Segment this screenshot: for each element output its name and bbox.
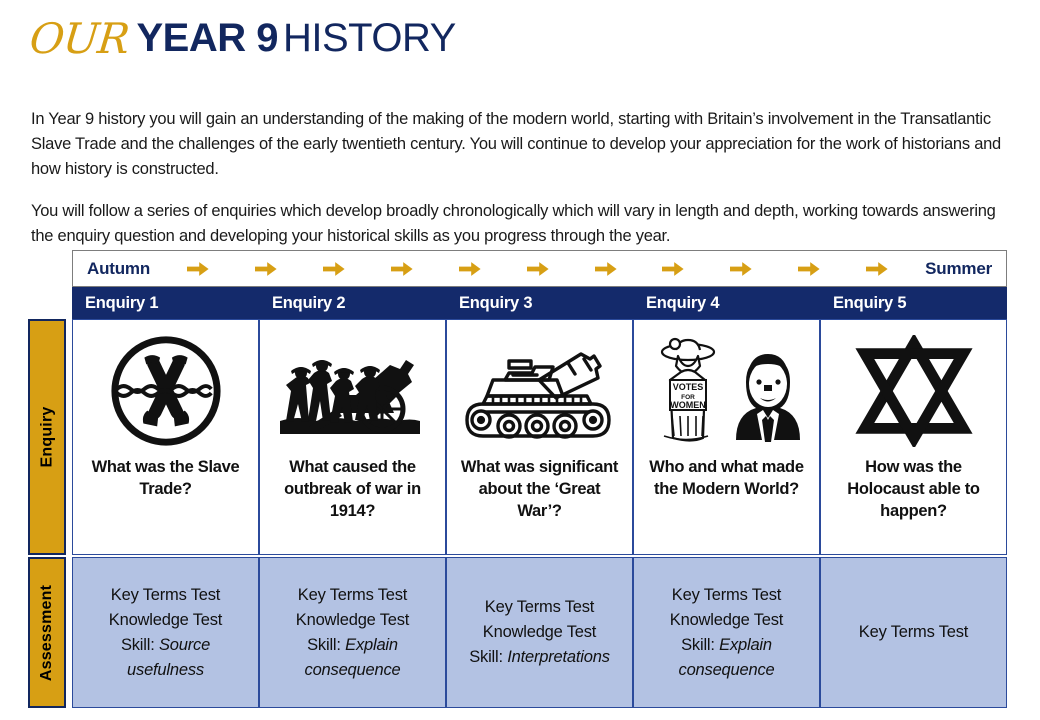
intro-paragraph-1: In Year 9 history you will gain an under… — [31, 107, 1017, 182]
enquiry-header-1: Enquiry 1 — [72, 287, 259, 319]
page-title-year: YEAR 9 — [136, 16, 278, 60]
assessment-text-5: Key Terms Test — [859, 620, 968, 645]
right-arrow-icon — [866, 261, 888, 277]
right-arrow-icon — [323, 261, 345, 277]
page-title-subject: HISTORY — [283, 16, 456, 60]
assessment-line: Key Terms Test — [111, 586, 220, 604]
assessment-line: Key Terms Test — [672, 586, 781, 604]
page-title: OURYEAR 9HISTORY — [30, 18, 456, 60]
soldiers-cannon-icon — [278, 332, 428, 450]
enquiry-cell-4: VOTES FOR WOMEN — [633, 319, 820, 555]
assessment-line: Knowledge Test — [109, 611, 222, 629]
chained-hands-icon — [107, 332, 225, 450]
page-title-our: OUR — [28, 18, 131, 60]
right-arrow-icon — [595, 261, 617, 277]
row-label-assessment: Assessment — [28, 557, 66, 708]
assessment-skill-prefix: Skill: — [121, 636, 155, 654]
assessment-cell-2: Key Terms Test Knowledge Test Skill: Exp… — [259, 557, 446, 708]
assessment-line: Key Terms Test — [859, 623, 968, 641]
row-label-enquiry-text: Enquiry — [38, 407, 56, 468]
assessment-line: Knowledge Test — [670, 611, 783, 629]
season-end-label: Summer — [925, 259, 992, 279]
enquiry-question-3: What was significant about the ‘Great Wa… — [455, 456, 624, 522]
placard-line-3: WOMEN — [670, 400, 706, 410]
assessment-text-2: Key Terms Test Knowledge Test Skill: Exp… — [269, 583, 436, 683]
right-arrow-icon — [391, 261, 413, 277]
enquiry-content-row: What was the Slave Trade? — [72, 319, 1007, 555]
right-arrow-icon — [662, 261, 684, 277]
assessment-skill-prefix: Skill: — [469, 648, 503, 666]
right-arrow-icon — [798, 261, 820, 277]
tank-icon — [465, 332, 615, 450]
enquiry-header-5: Enquiry 5 — [820, 287, 1007, 319]
assessment-cell-4: Key Terms Test Knowledge Test Skill: Exp… — [633, 557, 820, 708]
enquiry-cell-3: What was significant about the ‘Great Wa… — [446, 319, 633, 555]
curriculum-table: Autumn Summer Enquiry 1 Enquiry 2 Enquir… — [28, 250, 1008, 708]
enquiry-header-label: Enquiry 1 — [85, 294, 158, 313]
enquiry-header-2: Enquiry 2 — [259, 287, 446, 319]
season-start-label: Autumn — [87, 259, 150, 279]
enquiry-question-4: Who and what made the Modern World? — [642, 456, 811, 500]
enquiry-header-3: Enquiry 3 — [446, 287, 633, 319]
enquiry-cell-2: What caused the outbreak of war in 1914? — [259, 319, 446, 555]
season-progress-row: Autumn Summer — [72, 250, 1007, 287]
enquiry-header-label: Enquiry 2 — [272, 294, 345, 313]
assessment-skill-prefix: Skill: — [681, 636, 715, 654]
season-arrow-track — [150, 261, 925, 277]
assessment-content-row: Key Terms Test Knowledge Test Skill: Sou… — [72, 557, 1007, 708]
intro-paragraph-2: You will follow a series of enquiries wh… — [31, 199, 1017, 249]
enquiry-header-4: Enquiry 4 — [633, 287, 820, 319]
right-arrow-icon — [459, 261, 481, 277]
enquiry-header-label: Enquiry 4 — [646, 294, 719, 313]
assessment-text-3: Key Terms Test Knowledge Test Skill: Int… — [469, 595, 610, 670]
enquiry-header-label: Enquiry 3 — [459, 294, 532, 313]
enquiry-cell-5: How was the Holocaust able to happen? — [820, 319, 1007, 555]
right-arrow-icon — [730, 261, 752, 277]
assessment-text-4: Key Terms Test Knowledge Test Skill: Exp… — [643, 583, 810, 683]
assessment-text-1: Key Terms Test Knowledge Test Skill: Sou… — [82, 583, 249, 683]
enquiry-question-5: How was the Holocaust able to happen? — [829, 456, 998, 522]
right-arrow-icon — [255, 261, 277, 277]
assessment-line: Key Terms Test — [298, 586, 407, 604]
assessment-line: Knowledge Test — [483, 623, 596, 641]
assessment-cell-3: Key Terms Test Knowledge Test Skill: Int… — [446, 557, 633, 708]
suffragette-and-portrait-icon: VOTES FOR WOMEN — [648, 332, 806, 450]
placard-line-1: VOTES — [672, 382, 703, 392]
assessment-cell-5: Key Terms Test — [820, 557, 1007, 708]
row-label-assessment-text: Assessment — [38, 584, 56, 680]
assessment-line: Knowledge Test — [296, 611, 409, 629]
row-label-enquiry: Enquiry — [28, 319, 66, 555]
assessment-skill-prefix: Skill: — [307, 636, 341, 654]
enquiry-question-2: What caused the outbreak of war in 1914? — [268, 456, 437, 522]
assessment-skill-value: Interpretations — [507, 648, 609, 666]
enquiry-header-row: Enquiry 1 Enquiry 2 Enquiry 3 Enquiry 4 … — [72, 287, 1007, 319]
assessment-cell-1: Key Terms Test Knowledge Test Skill: Sou… — [72, 557, 259, 708]
enquiry-question-1: What was the Slave Trade? — [81, 456, 250, 500]
enquiry-cell-1: What was the Slave Trade? — [72, 319, 259, 555]
right-arrow-icon — [187, 261, 209, 277]
enquiry-header-label: Enquiry 5 — [833, 294, 906, 313]
star-of-david-icon — [855, 332, 973, 450]
right-arrow-icon — [527, 261, 549, 277]
assessment-line: Key Terms Test — [485, 598, 594, 616]
